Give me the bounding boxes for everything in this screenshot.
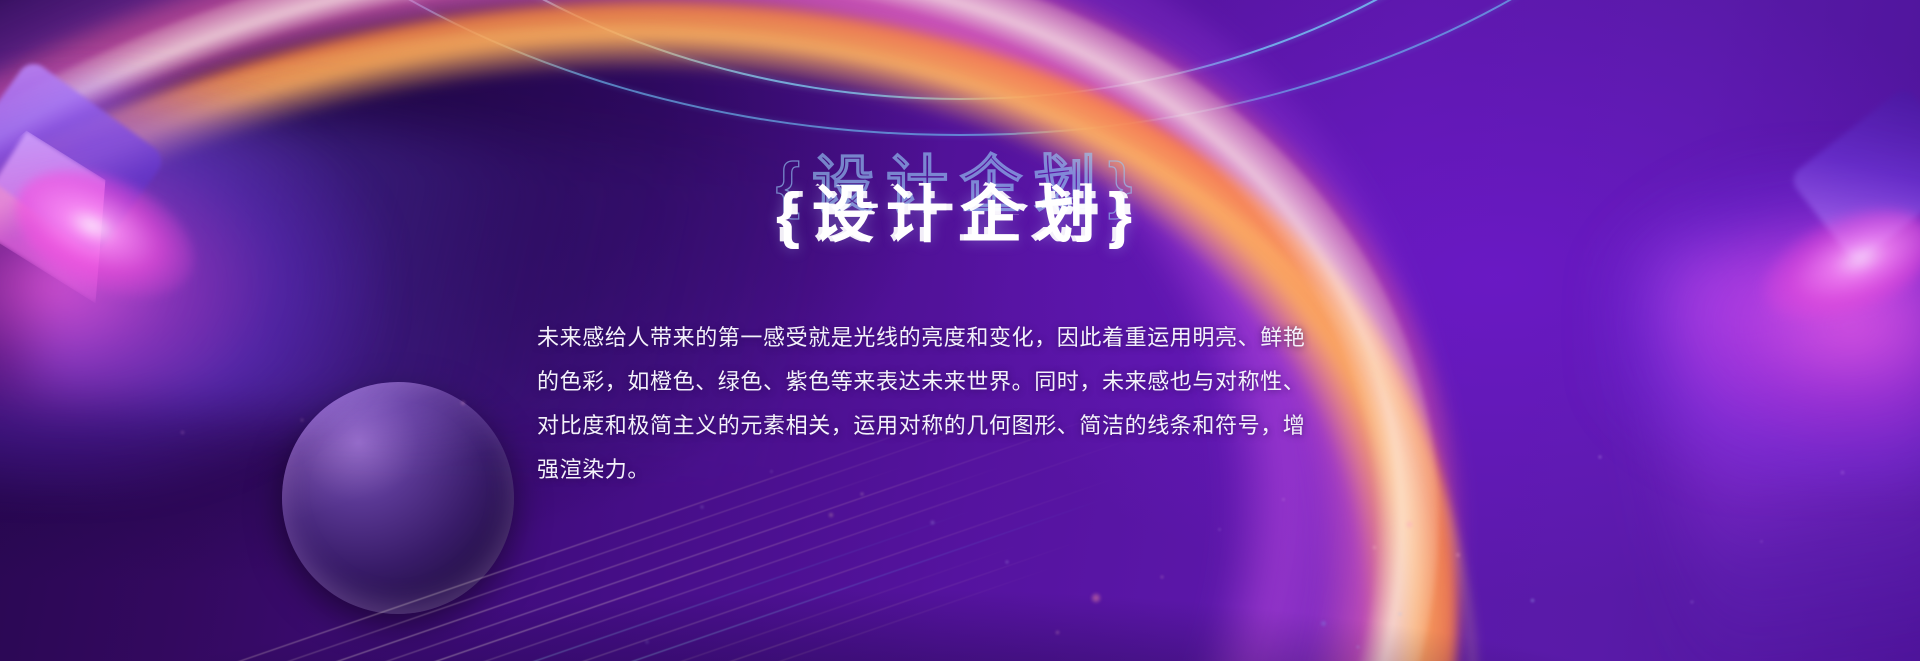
hero-banner: {设计企划} {设计企划} {设计企划} {设计企划} {设计企划} {设计企划… bbox=[0, 0, 1920, 661]
hero-body-line: 强渲染力。 bbox=[537, 448, 1383, 492]
hero-content: {设计企划} {设计企划} {设计企划} {设计企划} {设计企划} {设计企划… bbox=[0, 0, 1920, 661]
hero-body-line: 对比度和极简主义的元素相关，运用对称的几何图形、简洁的线条和符号，增 bbox=[537, 404, 1383, 448]
hero-title-block: {设计企划} {设计企划} {设计企划} {设计企划} {设计企划} {设计企划… bbox=[650, 160, 1270, 270]
hero-body-text: 未来感给人带来的第一感受就是光线的亮度和变化，因此着重运用明亮、鲜艳 的色彩，如… bbox=[537, 316, 1383, 492]
hero-body-line: 的色彩，如橙色、绿色、紫色等来表达未来世界。同时，未来感也与对称性、 bbox=[537, 360, 1383, 404]
hero-body-line: 未来感给人带来的第一感受就是光线的亮度和变化，因此着重运用明亮、鲜艳 bbox=[537, 316, 1383, 360]
